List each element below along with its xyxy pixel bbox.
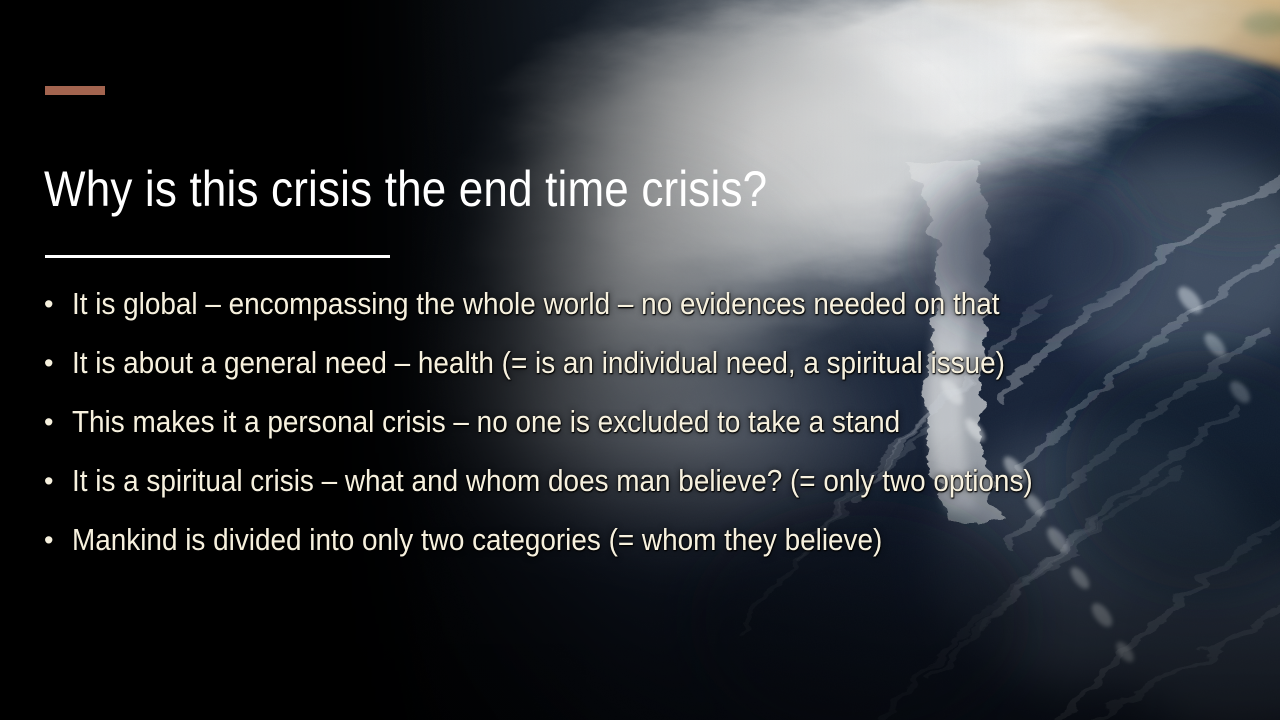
list-item: • It is a spiritual crisis – what and wh… — [44, 460, 1244, 519]
bullet-point-icon: • — [44, 283, 72, 325]
list-item-text: It is global – encompassing the whole wo… — [72, 283, 1000, 325]
page-title: Why is this crisis the end time crisis? — [44, 161, 924, 217]
list-item-text: This makes it a personal crisis – no one… — [72, 401, 900, 443]
bullet-list: • It is global – encompassing the whole … — [44, 283, 1244, 578]
presentation-slide: Why is this crisis the end time crisis? … — [0, 0, 1280, 720]
list-item-text: Mankind is divided into only two categor… — [72, 519, 882, 561]
list-item: • Mankind is divided into only two categ… — [44, 519, 1244, 578]
bullet-point-icon: • — [44, 519, 72, 561]
bullet-point-icon: • — [44, 401, 72, 443]
list-item-text: It is a spiritual crisis – what and whom… — [72, 460, 1033, 502]
title-accent-bar — [45, 86, 105, 95]
list-item-text: It is about a general need – health (= i… — [72, 342, 1005, 384]
title-underline-rule — [45, 255, 390, 258]
list-item: • It is about a general need – health (=… — [44, 342, 1244, 401]
bullet-point-icon: • — [44, 342, 72, 384]
bullet-point-icon: • — [44, 460, 72, 502]
list-item: • It is global – encompassing the whole … — [44, 283, 1244, 342]
slide-content: Why is this crisis the end time crisis? … — [0, 0, 1280, 720]
list-item: • This makes it a personal crisis – no o… — [44, 401, 1244, 460]
